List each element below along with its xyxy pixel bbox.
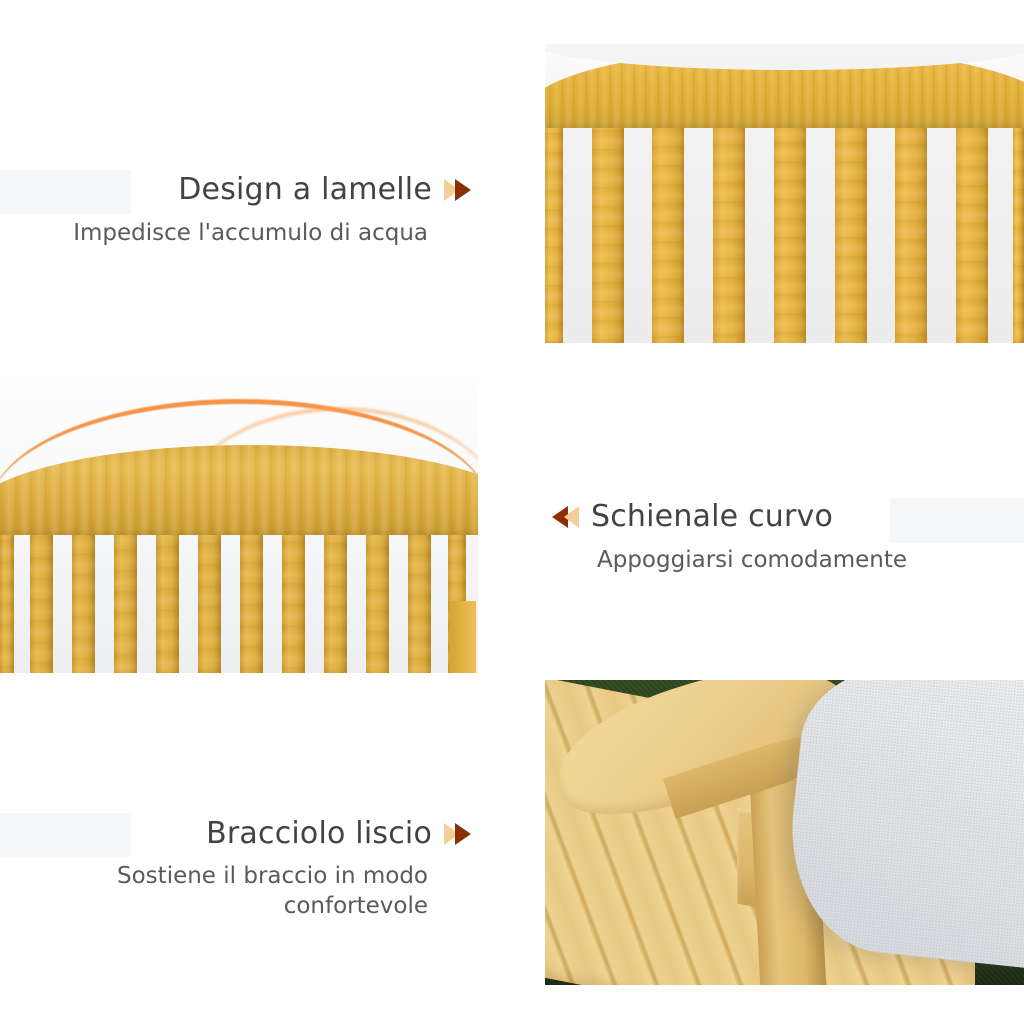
feature-smooth-armrest: Bracciolo liscio Sostiene il braccio in …: [0, 805, 495, 922]
feature-heading-row: Schienale curvo: [530, 487, 1024, 547]
bench-backrest-slats-photo: [545, 44, 1024, 343]
feature-heading: Schienale curvo: [591, 500, 833, 535]
bench-slat: [0, 519, 14, 673]
feature-heading-row: Design a lamelle: [0, 160, 495, 220]
bench-armrest-photo: [545, 680, 1024, 985]
bench-slat: [652, 108, 684, 343]
bench-slat: [956, 109, 988, 343]
feature-subheading: Impedisce l'accumulo di acqua: [0, 218, 495, 248]
chevron-right-icon: [444, 823, 471, 845]
bench-slat: [835, 104, 867, 343]
infographic-canvas: Design a lamelle Impedisce l'accumulo di…: [0, 0, 1024, 1024]
bench-slat: [1013, 113, 1024, 343]
bench-slat: [592, 111, 624, 343]
bench-slat: [408, 511, 431, 673]
bench-slat: [895, 106, 927, 343]
feature-subheading: Sostiene il braccio in modo confortevole: [0, 861, 495, 922]
bench-slat: [30, 515, 53, 673]
feature-slat-design: Design a lamelle Impedisce l'accumulo di…: [0, 160, 495, 248]
feature-subheading: Appoggiarsi comodamente: [530, 545, 1024, 575]
bench-armrest-edge: [450, 601, 476, 673]
chevron-left-light-icon: [564, 506, 579, 528]
chevron-right-icon: [444, 179, 471, 201]
feature-heading-row: Bracciolo liscio: [0, 805, 495, 863]
chevron-right-dark-icon: [455, 823, 471, 845]
chevron-left-icon: [552, 506, 579, 528]
feature-heading: Bracciolo liscio: [206, 817, 432, 852]
feature-heading: Design a lamelle: [178, 173, 432, 208]
bench-slat: [774, 104, 806, 343]
bench-curved-back-photo: [0, 363, 478, 673]
bench-slat: [72, 511, 95, 673]
chevron-right-dark-icon: [455, 179, 471, 201]
bench-slat: [713, 106, 745, 343]
bench-slat: [545, 114, 563, 343]
feature-curved-backrest: Schienale curvo Appoggiarsi comodamente: [530, 487, 1024, 575]
bench-slats-group: [545, 100, 1024, 343]
